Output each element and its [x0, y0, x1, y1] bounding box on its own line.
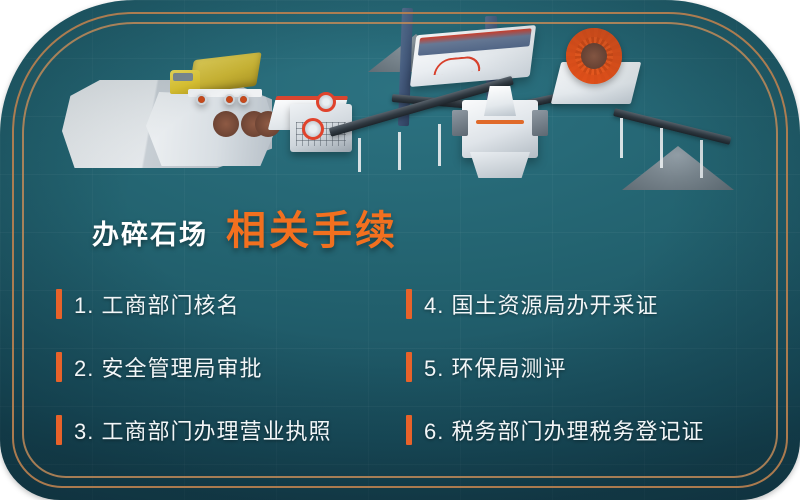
bullet-bar-icon — [56, 415, 62, 445]
vsi-motor — [532, 110, 548, 136]
title-prefix: 办碎石场 — [92, 213, 208, 252]
screen-deck — [418, 28, 532, 56]
conveyor-leg — [398, 132, 401, 170]
teal-panel: 办碎石场 相关手续 1. 工商部门核名 4. 国土资源局办开采证 2. 安全管理… — [0, 0, 800, 500]
list-item[interactable]: 4. 国土资源局办开采证 — [406, 272, 756, 335]
list-item[interactable]: 5. 环保局测评 — [406, 335, 756, 398]
list-item-label: 1. 工商部门核名 — [74, 288, 239, 320]
list-item-label: 4. 国土资源局办开采证 — [424, 288, 658, 320]
conveyor-leg — [438, 124, 441, 166]
vsi-motor — [452, 110, 468, 136]
conveyor-leg — [700, 140, 703, 178]
list-item-label: 2. 安全管理局审批 — [74, 351, 262, 383]
screen-arc — [433, 55, 482, 75]
list-item[interactable]: 3. 工商部门办理营业执照 — [56, 398, 406, 461]
vsi-band — [476, 120, 524, 124]
list-item-label: 5. 环保局测评 — [424, 351, 566, 383]
vsi-base — [470, 152, 530, 178]
belt-conveyor-icon — [613, 108, 731, 145]
vibrating-screen-icon — [410, 25, 536, 87]
banner-title: 办碎石场 相关手续 — [92, 198, 398, 256]
list-item[interactable]: 2. 安全管理局审批 — [56, 335, 406, 398]
vsi-sand-maker-icon — [462, 100, 538, 158]
banner-root: 办碎石场 相关手续 1. 工商部门核名 4. 国土资源局办开采证 2. 安全管理… — [0, 0, 800, 500]
truck-wheel — [196, 94, 207, 105]
crushing-plant-scene — [0, 0, 800, 215]
dump-truck-icon — [170, 62, 266, 106]
truck-wheel — [238, 94, 249, 105]
conveyor-leg — [358, 138, 361, 172]
bullet-bar-icon — [406, 352, 412, 382]
title-highlight: 相关手续 — [226, 198, 398, 256]
bullet-bar-icon — [406, 415, 412, 445]
list-item[interactable]: 6. 税务部门办理税务登记证 — [406, 398, 756, 461]
truck-windshield — [173, 73, 193, 81]
list-item-label: 3. 工商部门办理营业执照 — [74, 414, 331, 446]
conveyor-leg — [620, 118, 623, 158]
truck-wheel — [224, 94, 235, 105]
flywheel-icon — [316, 92, 336, 112]
aggregate-pile-icon — [622, 146, 734, 190]
flywheel-icon — [302, 118, 324, 140]
bullet-bar-icon — [56, 352, 62, 382]
list-item-label: 6. 税务部门办理税务登记证 — [424, 414, 704, 446]
list-item[interactable]: 1. 工商部门核名 — [56, 272, 406, 335]
sand-washer-wheel-icon — [566, 28, 622, 84]
conveyor-leg — [660, 128, 663, 168]
bullet-bar-icon — [406, 289, 412, 319]
procedure-list: 1. 工商部门核名 4. 国土资源局办开采证 2. 安全管理局审批 5. 环保局… — [56, 272, 756, 461]
bullet-bar-icon — [56, 289, 62, 319]
